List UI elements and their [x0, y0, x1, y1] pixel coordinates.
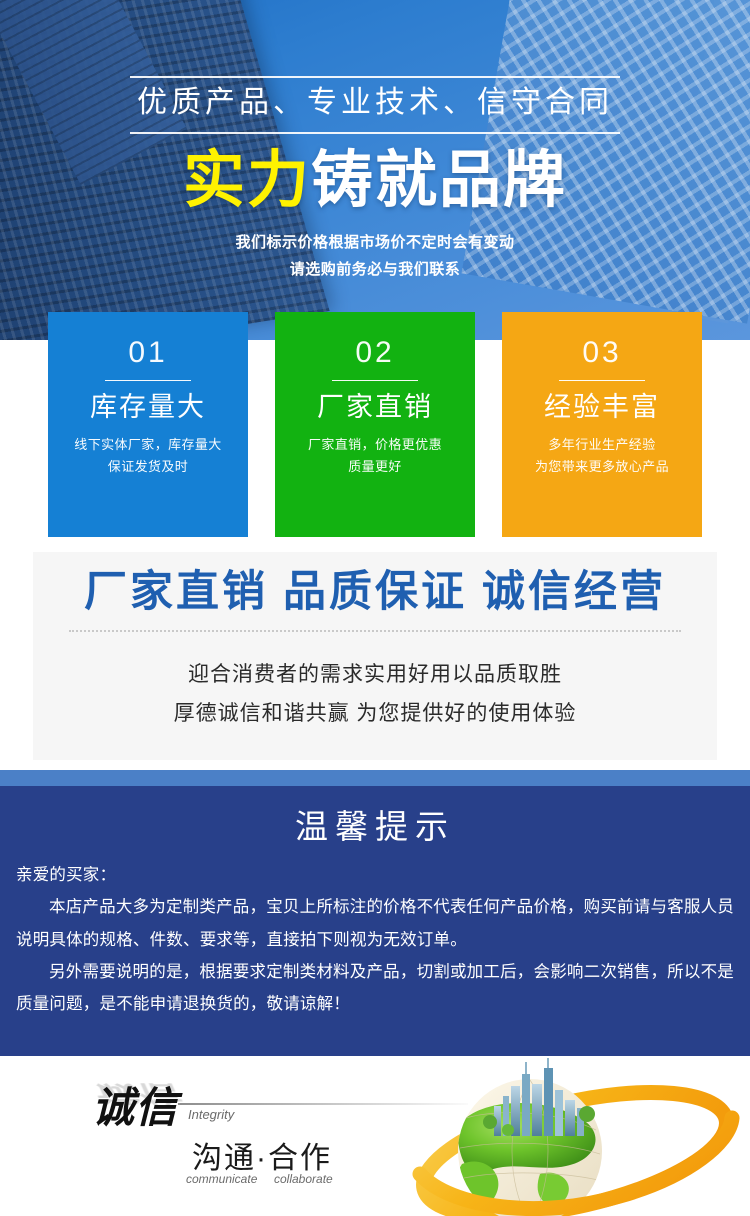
card-description-line-2: 保证发货及时 — [48, 456, 248, 479]
card-description-line-1: 厂家直销，价格更优惠 — [275, 434, 475, 457]
card-title: 库存量大 — [48, 393, 248, 423]
card-divider — [332, 380, 418, 381]
card-description: 厂家直销，价格更优惠 质量更好 — [275, 434, 475, 480]
card-divider — [105, 380, 191, 381]
slogan-line-1: 迎合消费者的需求实用好用以品质取胜 — [33, 656, 717, 695]
card-description: 多年行业生产经验 为您带来更多放心产品 — [502, 434, 702, 480]
hero-section: 优质产品、专业技术、信守合同 实力铸就品牌 我们标示价格根据市场价不定时会有变动… — [0, 0, 750, 340]
integrity-text-en: Integrity — [188, 1107, 234, 1122]
notice-paragraph-1: 本店产品大多为定制类产品，宝贝上所标注的价格不代表任何产品价格，购买前请与客服人… — [16, 891, 734, 955]
card-description: 线下实体厂家，库存量大 保证发货及时 — [48, 434, 248, 480]
slogan-panel: 厂家直销 品质保证 诚信经营 迎合消费者的需求实用好用以品质取胜 厚德诚信和谐共… — [33, 552, 717, 760]
notice-title: 温馨提示 — [0, 786, 750, 845]
hero-note-line-2: 请选购前务必与我们联系 — [0, 256, 750, 284]
hero-title-rest: 铸就品牌 — [311, 146, 567, 215]
card-description-line-2: 为您带来更多放心产品 — [502, 456, 702, 479]
card-description-line-2: 质量更好 — [275, 456, 475, 479]
slogan-line-2: 厚德诚信和谐共赢 为您提供好的使用体验 — [33, 695, 717, 734]
communicate-text-en: communicate — [186, 1172, 257, 1186]
hero-content: 优质产品、专业技术、信守合同 实力铸就品牌 我们标示价格根据市场价不定时会有变动… — [0, 0, 750, 284]
card-number: 02 — [275, 338, 475, 368]
collaborate-text-en: collaborate — [274, 1172, 333, 1186]
card-title: 经验丰富 — [502, 393, 702, 423]
slogan-lines: 迎合消费者的需求实用好用以品质取胜 厚德诚信和谐共赢 为您提供好的使用体验 — [33, 656, 717, 734]
green-globe-city-icon — [390, 1056, 750, 1216]
slogan-dotted-divider — [69, 630, 681, 632]
feature-cards: 01 库存量大 线下实体厂家，库存量大 保证发货及时 02 厂家直销 厂家直销，… — [48, 312, 702, 537]
card-divider — [559, 380, 645, 381]
promo-banner-page: 优质产品、专业技术、信守合同 实力铸就品牌 我们标示价格根据市场价不定时会有变动… — [0, 0, 750, 1216]
globe-graphic — [390, 1056, 750, 1216]
notice-paragraph-2: 另外需要说明的是，根据要求定制类材料及产品，切割或加工后，会影响二次销售，所以不… — [16, 956, 734, 1020]
card-title: 厂家直销 — [275, 393, 475, 423]
hero-note-line-1: 我们标示价格根据市场价不定时会有变动 — [0, 229, 750, 257]
card-description-line-1: 多年行业生产经验 — [502, 434, 702, 457]
integrity-text-cn: 诚信 — [92, 1074, 178, 1135]
card-number: 03 — [502, 338, 702, 368]
card-number: 01 — [48, 338, 248, 368]
hero-title-highlight: 实力 — [183, 146, 311, 215]
notice-body: 亲爱的买家： 本店产品大多为定制类产品，宝贝上所标注的价格不代表任何产品价格，购… — [0, 845, 750, 1020]
feature-card-01[interactable]: 01 库存量大 线下实体厂家，库存量大 保证发货及时 — [48, 312, 248, 537]
card-description-line-1: 线下实体厂家，库存量大 — [48, 434, 248, 457]
footer-divider-rule — [178, 1103, 468, 1105]
hero-subtitle: 优质产品、专业技术、信守合同 — [130, 84, 620, 122]
light-blue-strip — [0, 770, 750, 786]
feature-card-02[interactable]: 02 厂家直销 厂家直销，价格更优惠 质量更好 — [275, 312, 475, 537]
slogan-headline: 厂家直销 品质保证 诚信经营 — [33, 566, 717, 620]
notice-greeting: 亲爱的买家： — [16, 859, 734, 891]
feature-card-03[interactable]: 03 经验丰富 多年行业生产经验 为您带来更多放心产品 — [502, 312, 702, 537]
hero-title: 实力铸就品牌 — [0, 148, 750, 213]
hero-subtitle-rules: 优质产品、专业技术、信守合同 — [130, 76, 620, 134]
notice-section: 温馨提示 亲爱的买家： 本店产品大多为定制类产品，宝贝上所标注的价格不代表任何产… — [0, 786, 750, 1056]
collaborate-text-cn: 沟通·合作 — [192, 1133, 332, 1177]
hero-note: 我们标示价格根据市场价不定时会有变动 请选购前务必与我们联系 — [0, 229, 750, 285]
